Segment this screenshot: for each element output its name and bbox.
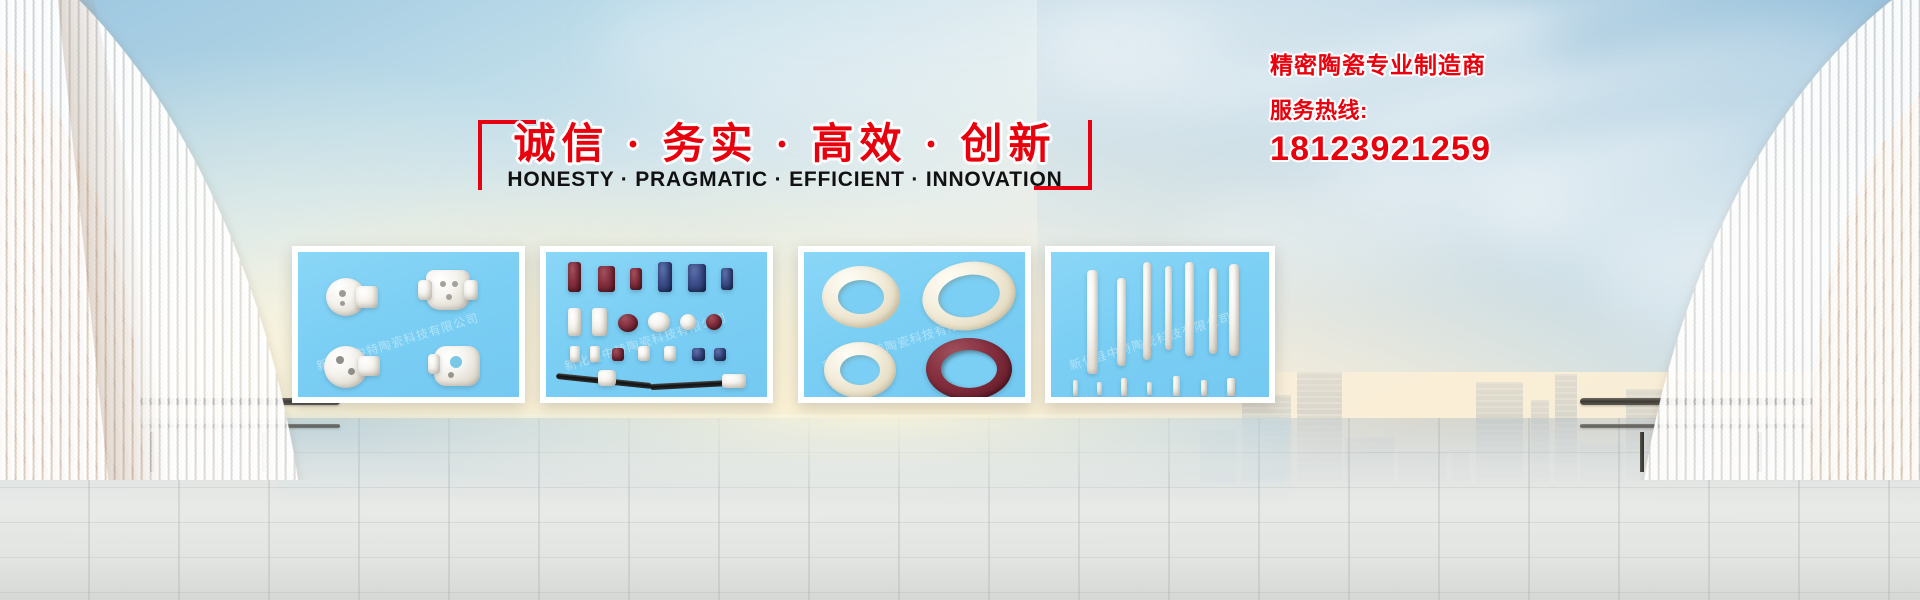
ceramic-terminal-plate (592, 308, 607, 336)
panel-inner: 新化县中特陶瓷科技有限公司 (804, 252, 1025, 397)
ceramic-ring-large (822, 266, 900, 328)
ceramic-washer (680, 314, 696, 330)
product-panel-ceramic-rings[interactable]: 新化县中特陶瓷科技有限公司 (798, 246, 1031, 403)
ceramic-rod (1117, 278, 1126, 366)
product-panel-ceramic-rods[interactable]: 新化县中特陶瓷科技有限公司 (1045, 246, 1275, 403)
ceramic-tube-navy (658, 262, 672, 292)
ceramic-small-part (638, 346, 650, 361)
white-curved-facade (1640, 0, 1920, 480)
panel-inner: 新化县中特陶瓷科技有限公司 (546, 252, 767, 397)
ceramic-tube-navy (688, 264, 706, 292)
floor-sun-glow (346, 414, 1498, 524)
panel-inner: 新化县中特陶瓷科技有限公司 (1051, 252, 1269, 397)
ceramic-small-part (590, 346, 600, 362)
ceramic-ring-maroon (618, 314, 638, 332)
ceramic-pin (1227, 378, 1235, 396)
ceramic-tube-maroon (598, 266, 615, 292)
slogan-block: 诚信 · 务实 · 高效 · 创新 HONESTY · PRAGMATIC · … (478, 112, 1092, 194)
ceramic-tube-maroon (568, 262, 581, 292)
contact-block: 精密陶瓷专业制造商 服务热线: 18123921259 (1270, 52, 1670, 169)
ceramic-pin (1073, 380, 1078, 396)
ceramic-tube-navy (721, 268, 733, 290)
ceramic-small-part (714, 348, 726, 361)
architecture-right (1640, 0, 1920, 480)
ceramic-small-part (692, 348, 705, 361)
ceramic-rod (1229, 264, 1239, 356)
ceramic-rod (1209, 268, 1217, 354)
ceramic-washer-maroon (706, 314, 722, 330)
ceramic-pin (1097, 382, 1102, 395)
ceramic-ring-white (648, 312, 670, 332)
ceramic-socket (324, 344, 382, 390)
panel-inner: 新化县中特陶瓷科技有限公司 (298, 252, 519, 397)
hotline-label: 服务热线: (1270, 98, 1670, 123)
ceramic-rod (1143, 262, 1151, 360)
product-panel-ceramic-sockets[interactable]: 新化县中特陶瓷科技有限公司 (292, 246, 525, 403)
ceramic-ring-large (917, 254, 1021, 337)
hero-banner: 诚信 · 务实 · 高效 · 创新 HONESTY · PRAGMATIC · … (0, 0, 1920, 600)
ceramic-rod (1087, 270, 1098, 374)
ceramic-pin (1201, 380, 1207, 396)
ceramic-socket (418, 268, 478, 316)
product-panel-tubes-terminals[interactable]: 新化县中特陶瓷科技有限公司 (540, 246, 773, 403)
ceramic-rod (1165, 266, 1172, 350)
slogan-english: HONESTY · PRAGMATIC · EFFICIENT · INNOVA… (478, 168, 1092, 192)
ceramic-small-part (570, 346, 580, 362)
ceramic-ring-medium (824, 342, 896, 397)
ceramic-socket (428, 344, 486, 388)
ceramic-small-part (612, 348, 624, 361)
wire-harness-cable (650, 380, 732, 390)
hotline-phone-number[interactable]: 18123921259 (1270, 130, 1670, 169)
ceramic-pin (1121, 378, 1127, 396)
ceramic-pin (1147, 382, 1152, 395)
ceramic-connector (598, 370, 616, 386)
ceramic-socket (326, 274, 380, 318)
ceramic-rod (1185, 262, 1194, 356)
ceramic-ring-maroon (926, 338, 1012, 397)
slogan-chinese: 诚信 · 务实 · 高效 · 创新 (478, 110, 1092, 171)
ceramic-connector (722, 374, 746, 388)
architecture-left (0, 0, 320, 480)
ceramic-small-part (664, 346, 676, 361)
ceramic-tube-maroon (630, 268, 642, 290)
ceramic-terminal-plate (568, 308, 581, 336)
company-tagline: 精密陶瓷专业制造商 (1270, 52, 1670, 78)
ceramic-pin (1173, 376, 1180, 396)
